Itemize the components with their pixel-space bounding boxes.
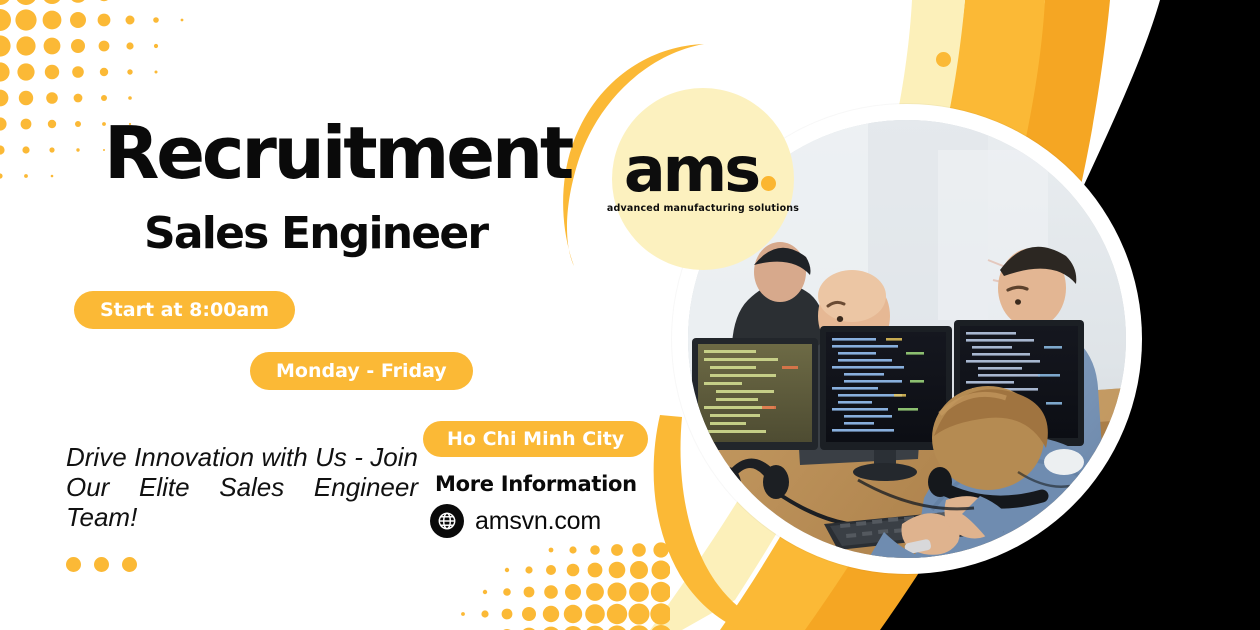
dots-bottom-left	[66, 557, 137, 572]
dot-icon	[936, 52, 951, 67]
logo-dot-icon	[761, 176, 776, 191]
dot-icon	[992, 52, 1007, 67]
page-subtitle: Sales Engineer	[144, 212, 487, 256]
more-information-heading: More Information	[435, 472, 637, 496]
halftone-bottom	[455, 540, 670, 630]
website-row[interactable]: amsvn.com	[430, 504, 601, 538]
dots-top-right	[936, 52, 1007, 67]
logo-wordmark-text: ams	[624, 133, 758, 206]
website-url[interactable]: amsvn.com	[475, 507, 601, 536]
badge-work-days: Monday - Friday	[250, 352, 473, 390]
logo-wordmark: ams	[624, 144, 782, 197]
dot-icon	[94, 557, 109, 572]
globe-icon	[430, 504, 464, 538]
recruitment-banner: ams advanced manufacturing solutions Rec…	[0, 0, 1260, 630]
ams-logo: ams advanced manufacturing solutions	[612, 88, 794, 270]
page-title: Recruitment	[104, 117, 571, 189]
badge-location: Ho Chi Minh City	[423, 421, 648, 457]
dot-icon	[66, 557, 81, 572]
dot-icon	[964, 52, 979, 67]
dot-icon	[122, 557, 137, 572]
badge-start-time: Start at 8:00am	[74, 291, 295, 329]
tagline-text: Drive Innovation with Us - Join Our Elit…	[66, 442, 418, 532]
